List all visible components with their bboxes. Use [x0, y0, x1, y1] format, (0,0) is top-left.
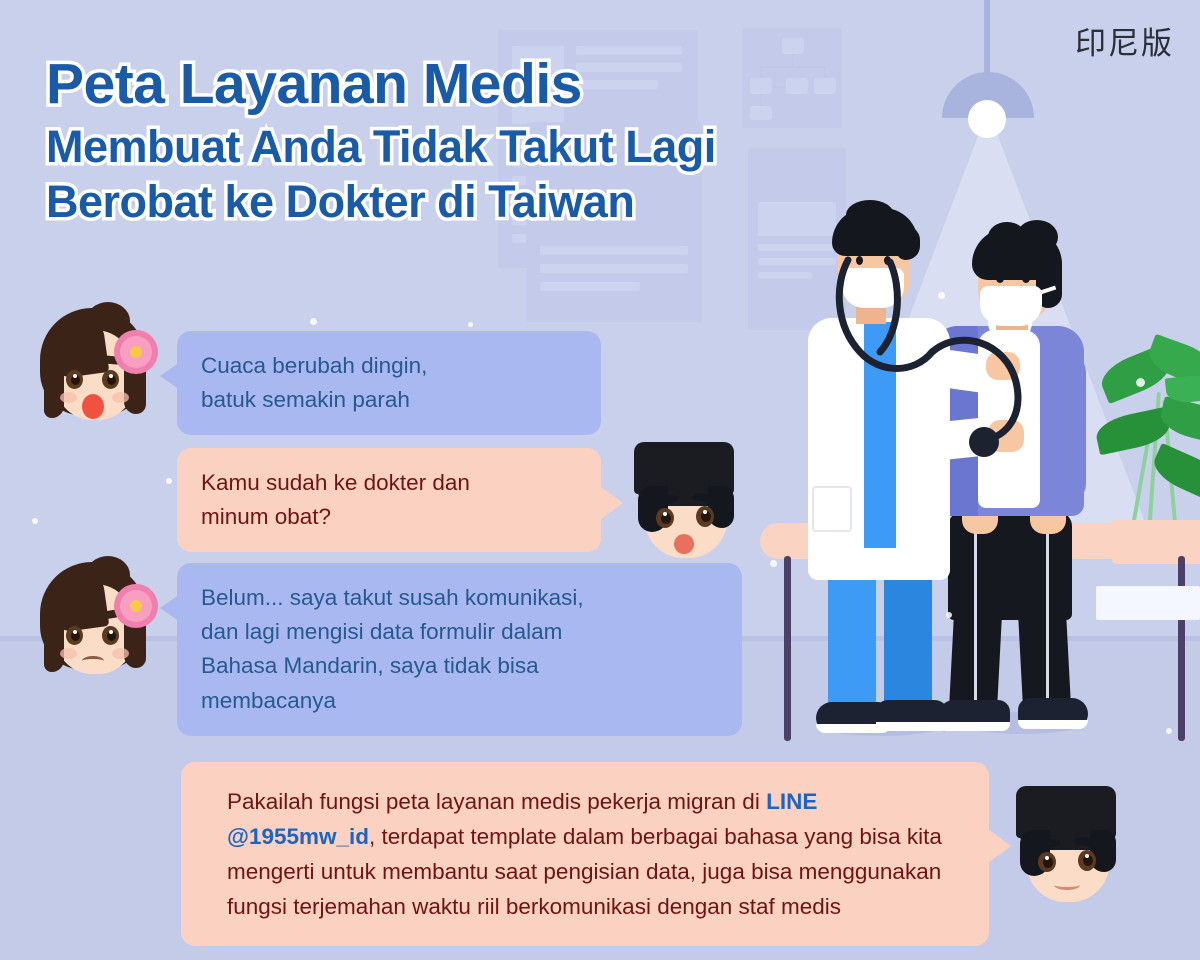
- title-line-2: Membuat Anda Tidak Takut Lagi: [46, 124, 786, 169]
- sparkle: [1136, 378, 1145, 387]
- chat-bubble-2: Kamu sudah ke dokter dan minum obat?: [177, 448, 601, 552]
- man-avatar-questioning: [622, 440, 750, 564]
- stethoscope-icon: [820, 240, 1040, 460]
- chat-text-prefix: Pakailah fungsi peta layanan medis peker…: [227, 789, 766, 814]
- sparkle: [468, 322, 473, 327]
- chat-line: Bahasa Mandarin, saya tidak bisa: [201, 649, 718, 683]
- sparkle: [770, 560, 777, 567]
- language-edition-badge: 印尼版: [1075, 18, 1174, 63]
- sparkle: [946, 612, 952, 618]
- chat-bubble-3: Belum... saya takut susah komunikasi, da…: [177, 563, 742, 736]
- sparkle: [1166, 728, 1172, 734]
- chat-line: dan lagi mengisi data formulir dalam: [201, 615, 718, 649]
- woman-avatar-surprised: [30, 302, 160, 430]
- chat-bubble-1: Cuaca berubah dingin, batuk semakin para…: [177, 331, 601, 435]
- chat-line: Belum... saya takut susah komunikasi,: [201, 581, 718, 615]
- wall-panel: [1096, 586, 1200, 620]
- chat-line: Cuaca berubah dingin,: [201, 349, 577, 383]
- man-avatar-smiling: [1004, 784, 1132, 908]
- page-title: Peta Layanan Medis Membuat Anda Tidak Ta…: [46, 56, 786, 224]
- lamp-cord: [984, 0, 990, 76]
- infographic-poster: 印尼版 Peta Layanan Medis Membuat Anda Tida…: [0, 0, 1200, 960]
- title-line-1: Peta Layanan Medis: [46, 56, 786, 113]
- woman-avatar-sad: [30, 556, 160, 684]
- bubble-tail-2: [601, 487, 623, 519]
- lamp-bulb: [968, 100, 1006, 138]
- title-line-3: Berobat ke Dokter di Taiwan: [46, 179, 786, 224]
- sparkle: [166, 478, 172, 484]
- chat-line: minum obat?: [201, 500, 577, 534]
- sparkle: [938, 292, 945, 299]
- bench-leg-right: [1178, 556, 1185, 741]
- smile-mouth: [1054, 880, 1080, 890]
- chat-bubble-4: Pakailah fungsi peta layanan medis peker…: [181, 762, 989, 946]
- sparkle: [310, 318, 317, 325]
- frown-mouth: [82, 656, 104, 666]
- chat-line: batuk semakin parah: [201, 383, 577, 417]
- chat-line: membacanya: [201, 684, 718, 718]
- chat-line: Kamu sudah ke dokter dan: [201, 466, 577, 500]
- coat-pocket: [812, 486, 852, 532]
- sparkle: [32, 518, 38, 524]
- bench-leg-left: [784, 556, 791, 741]
